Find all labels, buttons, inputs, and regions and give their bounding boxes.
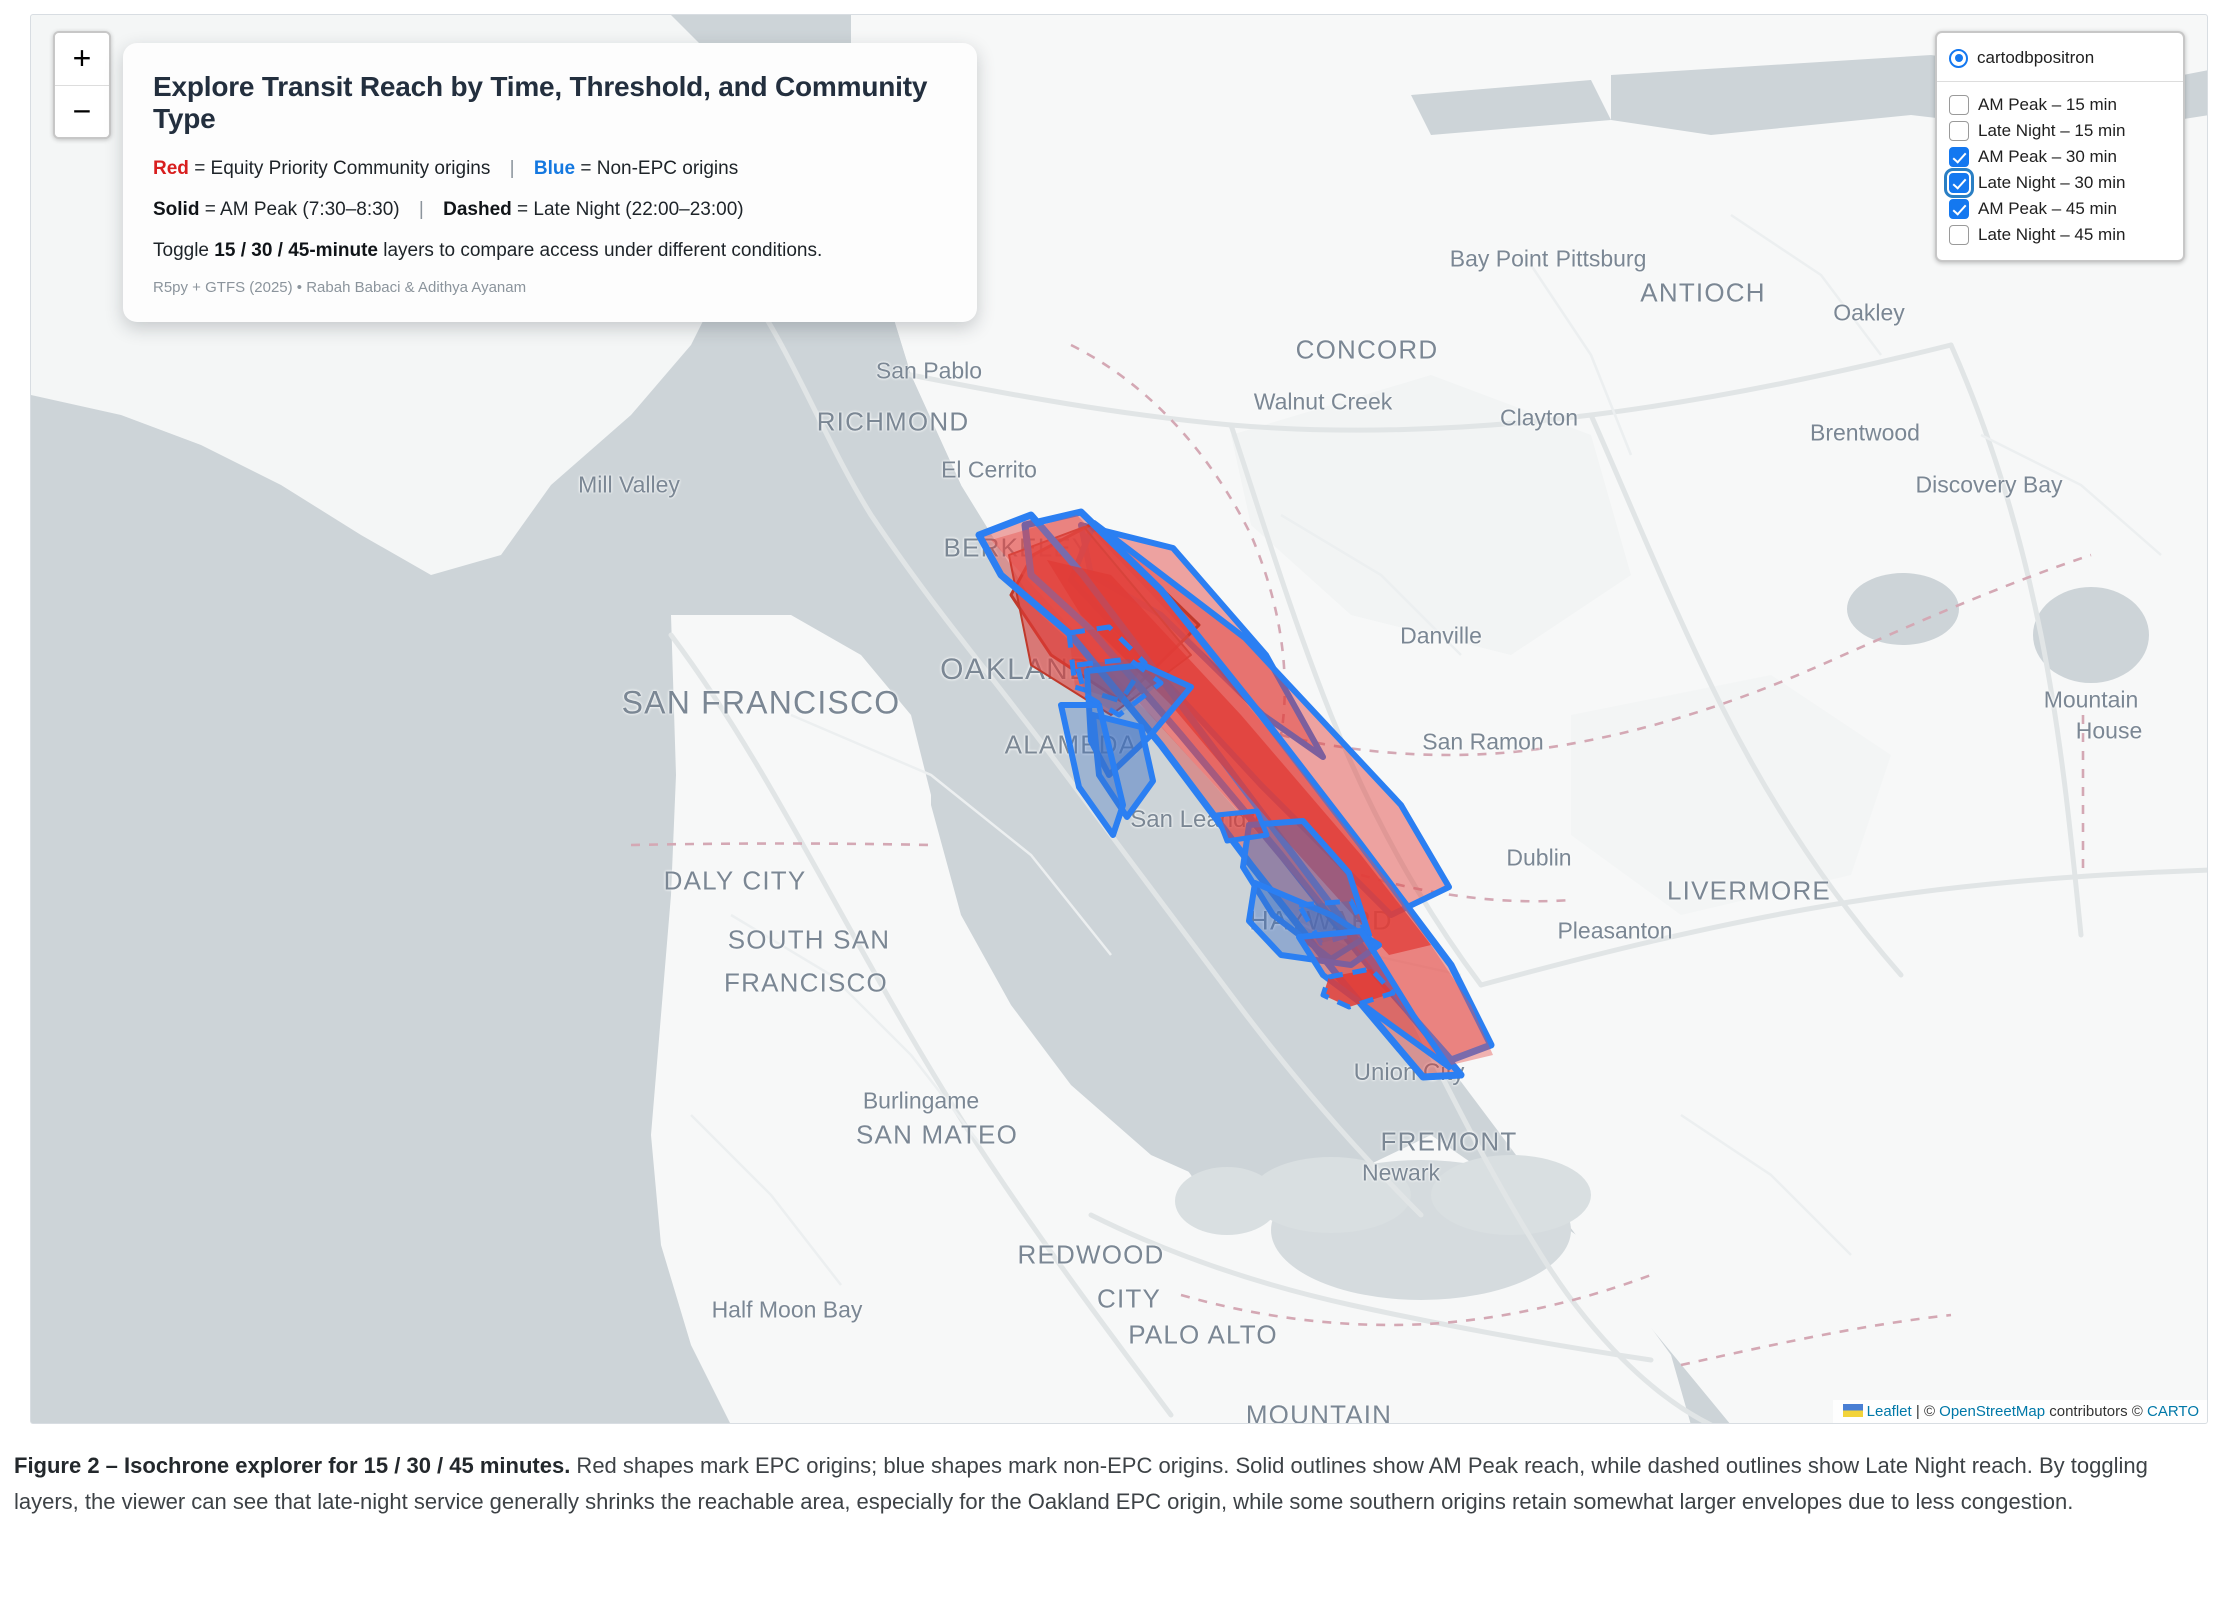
figure-caption: Figure 2 – Isochrone explorer for 15 / 3… — [14, 1448, 2218, 1519]
checkbox-icon[interactable] — [1949, 173, 1969, 193]
isochrone-hayward-notch[interactable] — [1217, 811, 1267, 841]
overlay-toggle-label: Late Night – 15 min — [1978, 121, 2125, 141]
legend-blue-label: Blue — [534, 158, 575, 179]
checkbox-icon[interactable] — [1949, 95, 1969, 115]
overlay-toggle-am-peak-30-min[interactable]: AM Peak – 30 min — [1949, 144, 2169, 170]
overlay-group[interactable]: AM Peak – 15 minLate Night – 15 minAM Pe… — [1949, 92, 2169, 248]
checkbox-icon[interactable] — [1949, 121, 1969, 141]
legend-solid-label: Solid — [153, 199, 199, 220]
legend-red-label: Red — [153, 158, 189, 179]
legend-credit: R5py + GTFS (2025) • Rabah Babaci & Adit… — [153, 279, 947, 296]
overlay-toggle-label: Late Night – 45 min — [1978, 225, 2125, 245]
legend-row-linestyles: Solid = AM Peak (7:30–8:30) | Dashed = L… — [153, 198, 947, 222]
map-attribution[interactable]: Leaflet | © OpenStreetMap contributors ©… — [1833, 1400, 2207, 1423]
legend-row-toggle-hint: Toggle 15 / 30 / 45-minute layers to com… — [153, 239, 947, 263]
overlay-toggle-late-night-15-min[interactable]: Late Night – 15 min — [1949, 118, 2169, 144]
overlay-toggle-label: Late Night – 30 min — [1978, 173, 2125, 193]
overlay-toggle-label: AM Peak – 15 min — [1978, 95, 2117, 115]
basemap-option-cartodbpositron[interactable]: cartodbpositron — [1949, 45, 2169, 71]
caption-lead: Figure 2 – Isochrone explorer for 15 / 3… — [14, 1453, 570, 1478]
legend-toggle-prefix: Toggle — [153, 240, 209, 261]
checkbox-icon[interactable] — [1949, 225, 1969, 245]
leaflet-map[interactable]: SAN RAFAELSan PabloRICHMONDEl CerritoMil… — [30, 14, 2208, 1424]
legend-title: Explore Transit Reach by Time, Threshold… — [153, 71, 947, 135]
overlay-toggle-am-peak-45-min[interactable]: AM Peak – 45 min — [1949, 196, 2169, 222]
legend-blue-text: = Non-EPC origins — [580, 158, 738, 179]
basemap-option-label: cartodbpositron — [1977, 48, 2094, 68]
figure-container: SAN RAFAELSan PabloRICHMONDEl CerritoMil… — [0, 0, 2232, 1616]
layer-control[interactable]: cartodbpositron AM Peak – 15 minLate Nig… — [1935, 31, 2185, 262]
legend-dashed-text: = Late Night (22:00–23:00) — [517, 199, 744, 220]
overlay-toggle-am-peak-15-min[interactable]: AM Peak – 15 min — [1949, 92, 2169, 118]
leaflet-link[interactable]: Leaflet — [1867, 1403, 1912, 1420]
zoom-control[interactable]: + − — [53, 31, 111, 139]
legend-solid-text: = AM Peak (7:30–8:30) — [205, 199, 400, 220]
attribution-pipe: | — [1916, 1403, 1920, 1420]
legend-toggle-suffix: layers to compare access under different… — [383, 240, 822, 261]
overlay-toggle-label: AM Peak – 30 min — [1978, 147, 2117, 167]
zoom-in-button[interactable]: + — [55, 33, 109, 85]
copyright-symbol-2: © — [2132, 1403, 2143, 1420]
isochrone-band-fill — [991, 515, 1493, 1065]
overlay-toggle-late-night-45-min[interactable]: Late Night – 45 min — [1949, 222, 2169, 248]
checkbox-icon[interactable] — [1949, 199, 1969, 219]
attribution-contributors: contributors — [2049, 1403, 2127, 1420]
legend-red-text: = Equity Priority Community origins — [194, 158, 490, 179]
copyright-symbol-1: © — [1924, 1403, 1935, 1420]
legend-separator-1: | — [496, 158, 529, 179]
overlay-toggle-label: AM Peak – 45 min — [1978, 199, 2117, 219]
legend-toggle-emphasis: 15 / 30 / 45-minute — [214, 240, 378, 261]
radio-icon[interactable] — [1949, 49, 1968, 68]
zoom-out-button[interactable]: − — [55, 85, 109, 137]
basemap-group[interactable]: cartodbpositron — [1949, 45, 2169, 81]
overlay-toggle-late-night-30-min[interactable]: Late Night – 30 min — [1949, 170, 2169, 196]
legend-row-colors: Red = Equity Priority Community origins … — [153, 157, 947, 181]
layer-control-divider — [1937, 81, 2183, 82]
openstreetmap-link[interactable]: OpenStreetMap — [1939, 1403, 2045, 1420]
legend-separator-2: | — [405, 199, 438, 220]
ukraine-flag-icon — [1843, 1404, 1863, 1417]
legend-card: Explore Transit Reach by Time, Threshold… — [123, 43, 977, 322]
carto-link[interactable]: CARTO — [2147, 1403, 2199, 1420]
checkbox-icon[interactable] — [1949, 147, 1969, 167]
legend-dashed-label: Dashed — [443, 199, 512, 220]
